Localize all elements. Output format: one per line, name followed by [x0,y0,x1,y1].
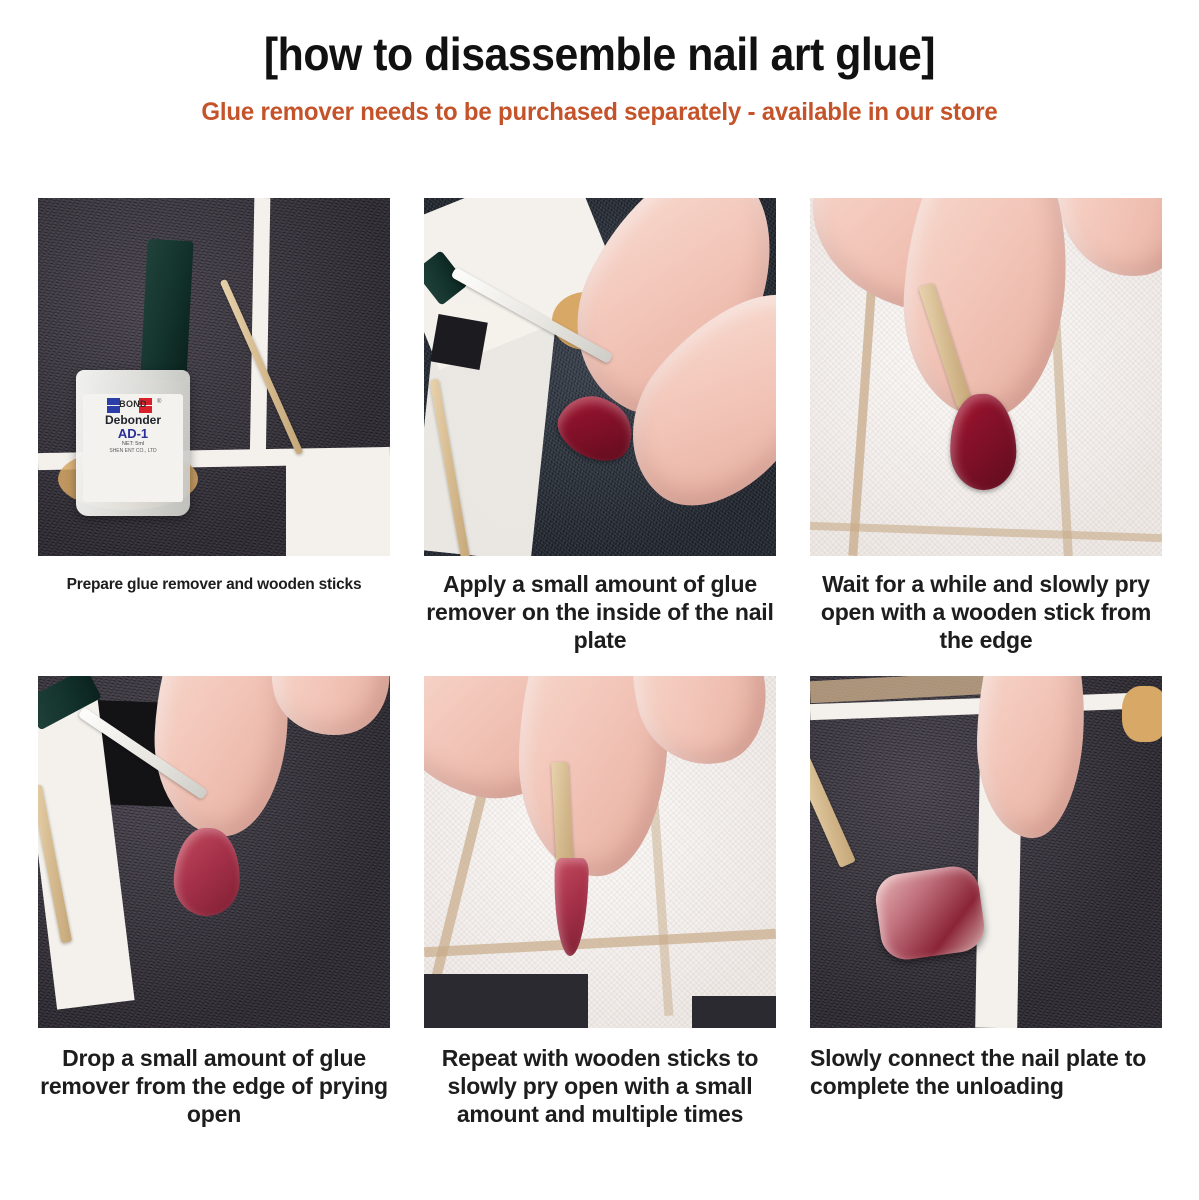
steps-row-top: ® BOND Debonder AD-1 NET: 5ml SHEN ENT C… [38,198,1162,654]
step-caption-2: Apply a small amount of glue remover on … [424,570,776,654]
step-caption-4: Drop a small amount of glue remover from… [38,1044,390,1128]
bottle-cap [140,239,193,381]
header: [how to disassemble nail art glue] Glue … [0,0,1199,127]
page-title: [how to disassemble nail art glue] [42,30,1157,78]
step-card-6: Slowly connect the nail plate to complet… [810,676,1162,1128]
bottle-net-volume: NET: 5ml [83,441,183,448]
white-panel-corner [286,456,390,556]
step-caption-5: Repeat with wooden sticks to slowly pry … [424,1044,776,1128]
dark-geometric-patch [430,314,488,370]
step-caption-1: Prepare glue remover and wooden sticks [38,576,390,595]
step-photo-1: ® BOND Debonder AD-1 NET: 5ml SHEN ENT C… [38,198,390,556]
step-card-3: Wait for a while and slowly pry open wit… [810,198,1162,654]
bottle-model: AD-1 [83,427,183,441]
page-subtitle: Glue remover needs to be purchased separ… [24,98,1175,127]
step-card-4: Drop a small amount of glue remover from… [38,676,390,1128]
step-caption-6: Slowly connect the nail plate to complet… [810,1044,1162,1100]
step-card-2: Apply a small amount of glue remover on … [424,198,776,654]
step-photo-6 [810,676,1162,1028]
steps-row-bottom: Drop a small amount of glue remover from… [38,676,1162,1128]
step-card-5: Repeat with wooden sticks to slowly pry … [424,676,776,1128]
bottle-brand: BOND [83,400,183,409]
step-photo-4 [38,676,390,1028]
bottle-body: ® BOND Debonder AD-1 NET: 5ml SHEN ENT C… [76,370,190,516]
brand-logo: ® BOND [83,398,183,414]
bottle-label: ® BOND Debonder AD-1 NET: 5ml SHEN ENT C… [83,394,183,502]
tan-patch [1122,686,1162,742]
dark-patch-left [424,974,588,1028]
steps-grid: ® BOND Debonder AD-1 NET: 5ml SHEN ENT C… [38,198,1162,1128]
step-caption-3: Wait for a while and slowly pry open wit… [810,570,1162,654]
removed-nail-plate [873,863,988,963]
step-photo-3 [810,198,1162,556]
infographic-page: [how to disassemble nail art glue] Glue … [0,0,1199,1200]
step-photo-5 [424,676,776,1028]
dark-patch-right [692,996,776,1028]
bottle-company: SHEN ENT CO., LTD [83,448,183,454]
step-card-1: ® BOND Debonder AD-1 NET: 5ml SHEN ENT C… [38,198,390,654]
step-photo-2 [424,198,776,556]
